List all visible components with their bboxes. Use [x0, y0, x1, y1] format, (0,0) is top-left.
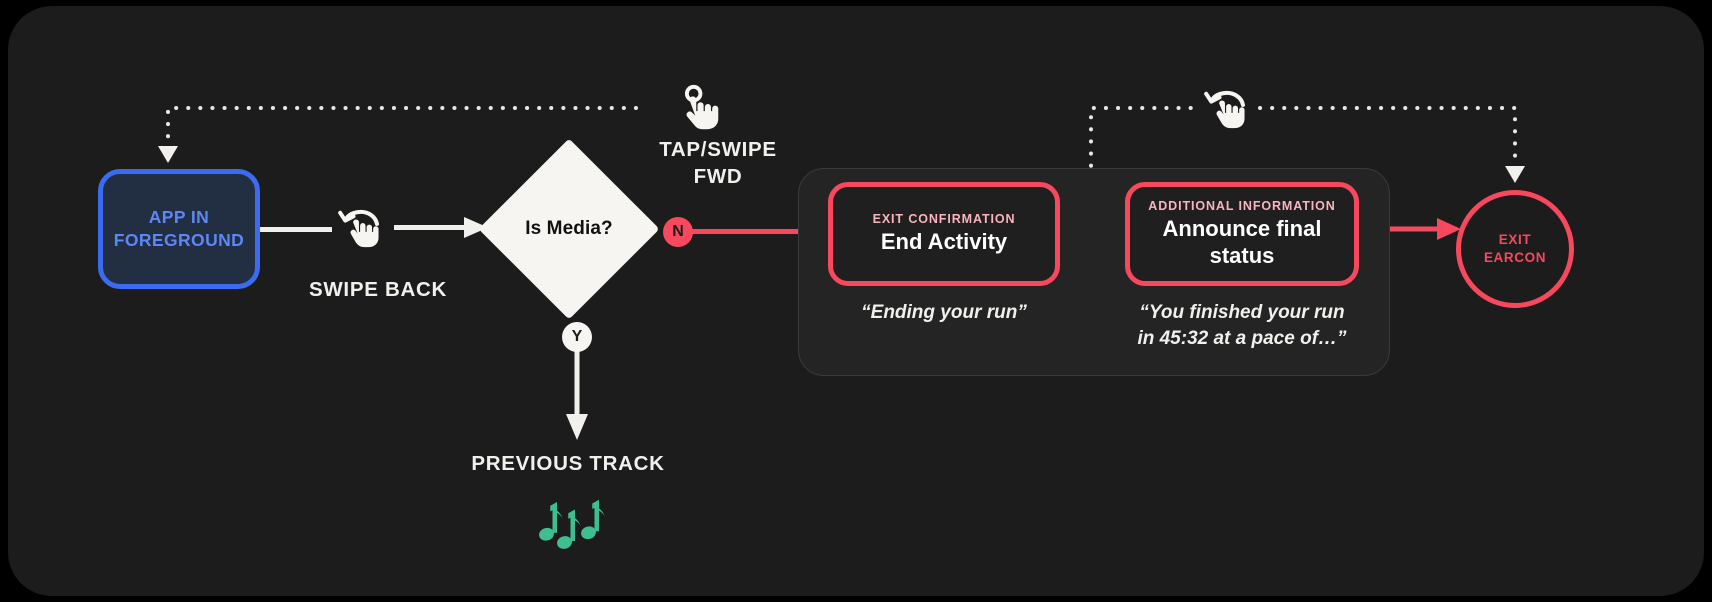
card-title: End Activity — [881, 229, 1007, 255]
label-previous-track: PREVIOUS TRACK — [408, 452, 728, 476]
tap-gesture-icon — [676, 84, 726, 136]
swipe-back-gesture-icon-top — [1200, 82, 1254, 136]
label-swipe-back: SWIPE BACK — [258, 278, 498, 302]
diagram-canvas: APP IN FOREGROUND SWIPE BACK Is Media? N… — [8, 6, 1704, 596]
connector-app-to-swipe-icon — [260, 227, 332, 232]
card-eyebrow: ADDITIONAL INFORMATION — [1148, 199, 1335, 213]
card-eyebrow: EXIT CONFIRMATION — [873, 212, 1016, 226]
card-exit-confirmation[interactable]: EXIT CONFIRMATION End Activity — [828, 182, 1060, 286]
earcon-label: EXIT EARCON — [1484, 231, 1546, 267]
caption-exit-confirmation: “Ending your run” — [828, 300, 1060, 326]
music-notes-icon — [530, 496, 626, 568]
dotted-path-swipe-icon-to-earcon — [1260, 108, 1515, 166]
connector-yes-to-previous-track — [560, 350, 596, 446]
app-node-label: APP IN FOREGROUND — [114, 206, 244, 252]
connector-swipe-icon-to-diamond — [394, 212, 490, 244]
card-title: Announce final status — [1163, 216, 1322, 269]
node-exit-earcon[interactable]: EXIT EARCON — [1456, 190, 1574, 308]
card-additional-information[interactable]: ADDITIONAL INFORMATION Announce final st… — [1125, 182, 1359, 286]
swipe-back-gesture-icon — [334, 201, 388, 255]
dotted-arrowhead-into-earcon — [1505, 166, 1525, 183]
node-app-in-foreground[interactable]: APP IN FOREGROUND — [98, 169, 260, 289]
label-tap-swipe-fwd: TAP/SWIPE FWD — [608, 136, 828, 190]
badge-no: N — [663, 217, 693, 247]
badge-yes: Y — [562, 322, 592, 352]
caption-additional-information: “You finished your run in 45:32 at a pac… — [1115, 300, 1369, 351]
dotted-arrowhead-into-app — [158, 146, 178, 163]
